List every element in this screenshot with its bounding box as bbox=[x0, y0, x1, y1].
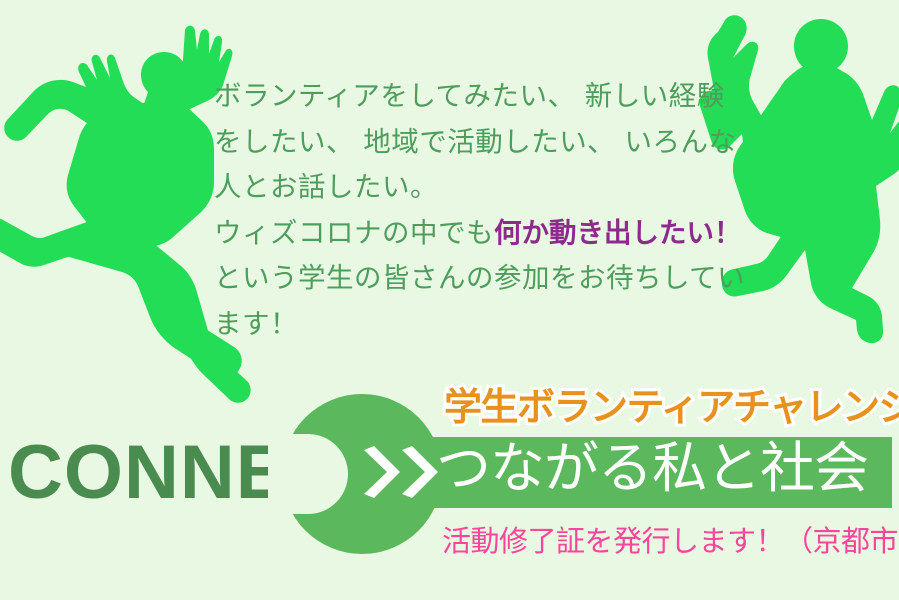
certificate-footnote: 活動修了証を発行します！（京都市長名） bbox=[442, 524, 899, 558]
body-copy: ボランティアをしてみたい、 新しい経験 をしたい、 地域で活動したい、 いろんな… bbox=[214, 74, 754, 347]
body-line-3: 人とお話したい。 bbox=[214, 171, 438, 203]
kicker-headline: 学生ボランティアチャレンジ bbox=[444, 386, 899, 428]
body-line-4-prefix: ウィズコロナの中でも bbox=[214, 217, 494, 249]
double-chevron-right-icon bbox=[362, 446, 442, 502]
banner-tagline: つながる私と社会 bbox=[436, 432, 896, 504]
poster-canvas: ボランティアをしてみたい、 新しい経験 をしたい、 地域で活動したい、 いろんな… bbox=[0, 0, 899, 600]
body-line-1: ボランティアをしてみたい、 新しい経験 bbox=[214, 80, 725, 112]
connect-circle-notch-fill bbox=[268, 434, 310, 514]
body-line-2: をしたい、 地域で活動したい、 いろんな bbox=[214, 126, 736, 158]
body-line-6: ます！ bbox=[214, 308, 298, 340]
body-line-4-highlight: 何か動き出したい！ bbox=[494, 217, 742, 249]
body-line-5: という学生の皆さんの参加をお待ちしてい bbox=[214, 262, 745, 294]
